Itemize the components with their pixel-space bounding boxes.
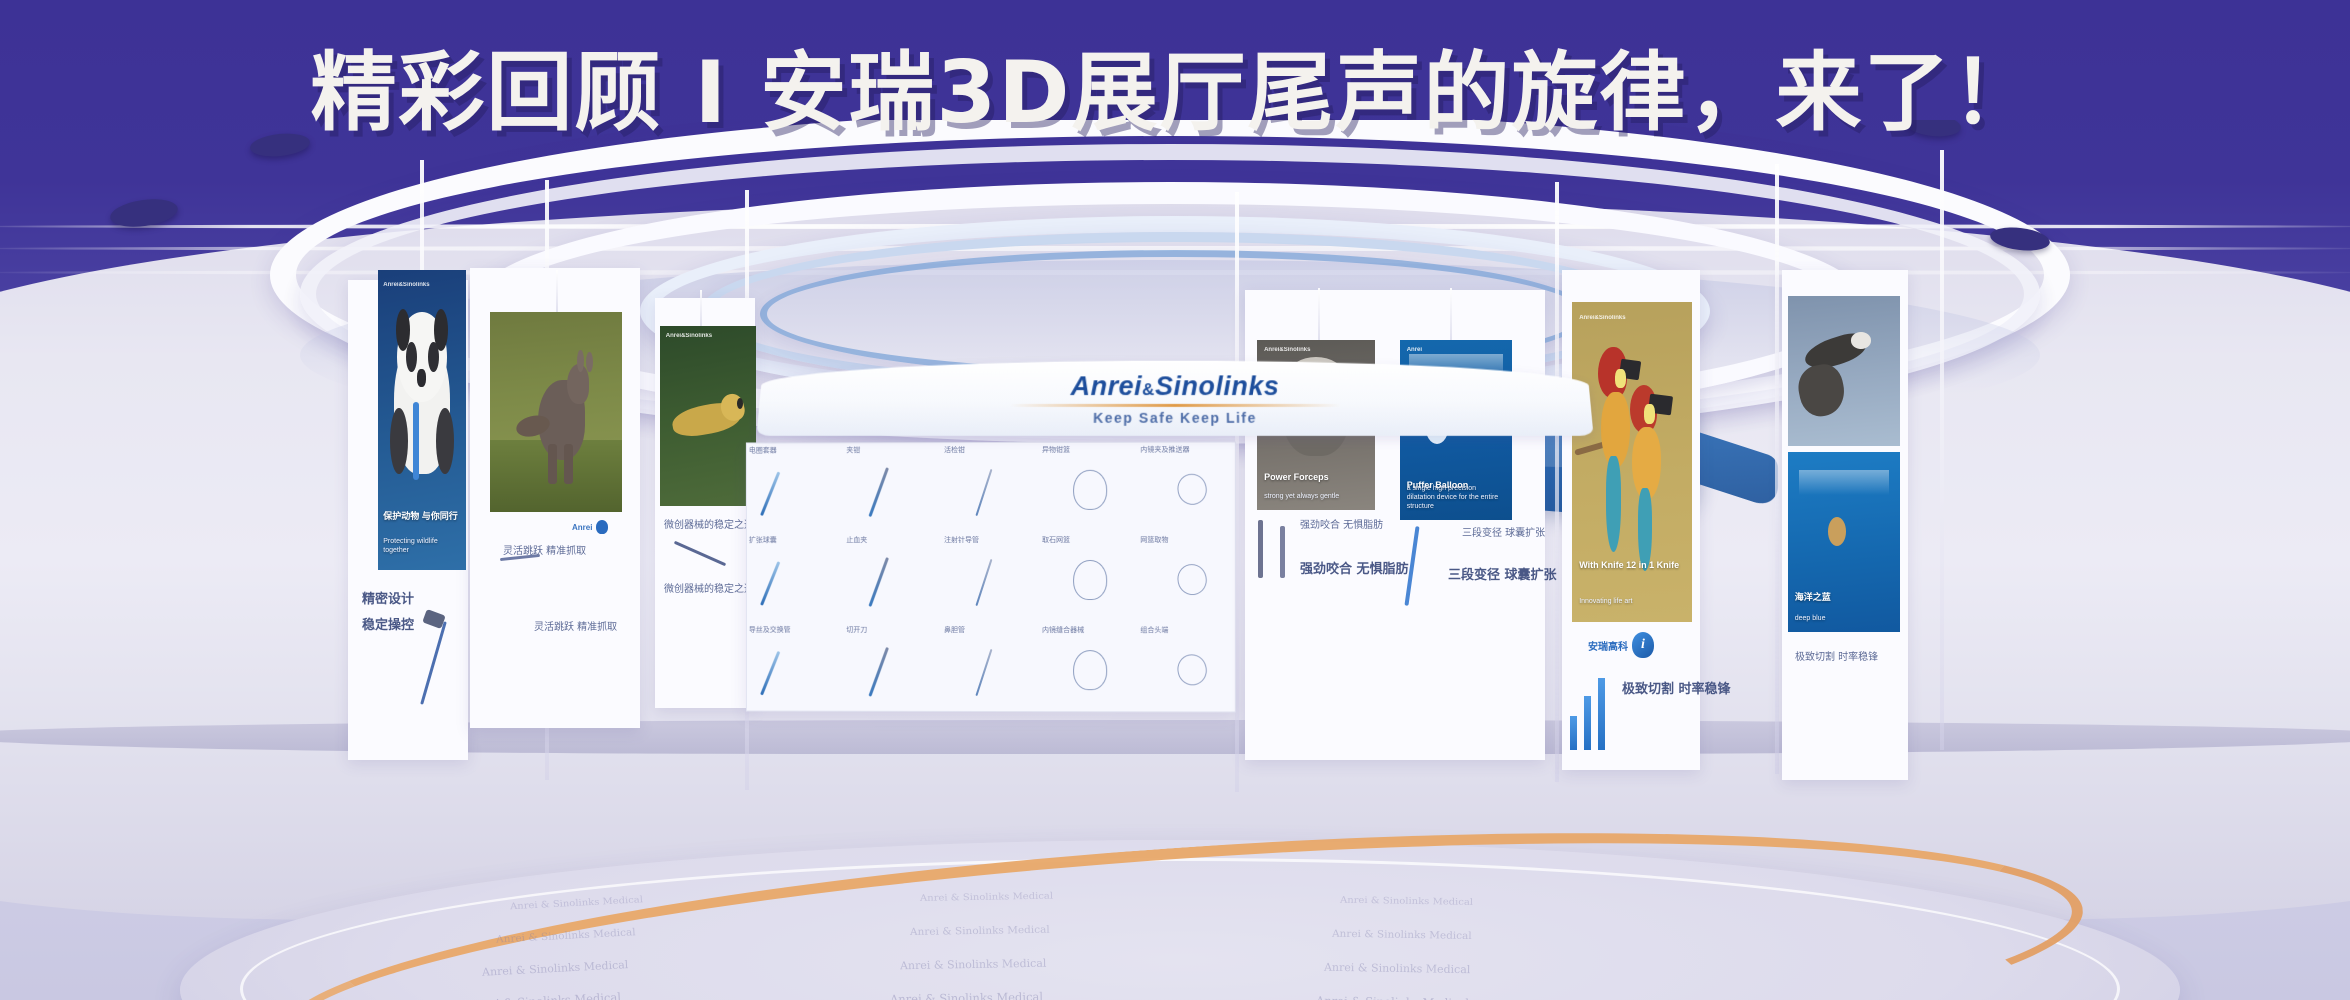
kangaroo-logo-badge: Anrei [572, 520, 608, 534]
page-title: 精彩回顾 I 安瑞3D展厅尾声的旋律，来了！ [0, 22, 2350, 147]
poster-brand: Anrei&Sinolinks [1264, 347, 1310, 353]
product-grid-panel[interactable]: 电圈套器夹钳活检钳异物钳篮内镜夹及推送器扩张球囊止血夹注射针导管取石网篮网篮取物… [746, 442, 1236, 713]
poster-title: With Knife 12 in 1 Knife [1579, 560, 1685, 571]
poster-bee-eater[interactable]: Anrei&Sinolinks With Knife 12 in 1 Knife… [1572, 302, 1692, 622]
dolphin-caption: 三段变径 球囊扩张 [1448, 566, 1557, 586]
instrument-icon [1073, 470, 1106, 510]
mini-bar [1584, 696, 1591, 750]
brand-anrei: Anrei [1071, 371, 1143, 400]
bird-logo-badge: 安瑞高科 i [1588, 632, 1654, 658]
kangaroo-caption-2: 灵活跳跃 精准抓取 [534, 620, 617, 635]
poster-eagle[interactable] [1788, 296, 1900, 446]
instrument-icon [1175, 651, 1210, 687]
poster-hanger [556, 270, 558, 312]
product-grid-cell-label: 组合头端 [1140, 625, 1168, 635]
poster-panda[interactable]: Anrei&Sinolinks 保护动物 与你同行 Protecting wil… [378, 270, 466, 570]
poster-subtitle: Innovating life art [1579, 597, 1685, 606]
instrument-icon [869, 557, 890, 607]
instrument-icon [976, 469, 993, 516]
mini-bar [1598, 678, 1605, 750]
hall-floor: Anrei & Sinolinks MedicalAnrei & Sinolin… [180, 840, 2180, 1000]
instrument-icon [976, 649, 993, 696]
poster-subtitle: a single high precision dilatation devic… [1407, 484, 1506, 511]
instrument-icon [1175, 561, 1210, 597]
instrument-icon [869, 647, 890, 697]
product-grid-cell[interactable]: 异物钳篮 [1040, 443, 1138, 533]
instrument-sketch [1280, 526, 1285, 578]
lizard-caption-2: 微创器械的稳定之选 [664, 582, 754, 597]
product-grid-cell[interactable]: 夹钳 [844, 443, 942, 533]
instrument-icon [760, 471, 780, 515]
instrument-icon [869, 468, 890, 518]
exhibition-hall-3d-scene: Anrei&Sinolinks 保护动物 与你同行 Protecting wil… [0, 120, 2350, 1000]
badger-caption: 强劲咬合 无惧脂肪 [1300, 560, 1409, 580]
panel-caption-left-line2: 稳定操控 [362, 616, 414, 636]
instrument-icon [976, 559, 993, 606]
exhibition-banner-image: Anrei&Sinolinks 保护动物 与你同行 Protecting wil… [0, 0, 2350, 1000]
instrument-icon [1175, 471, 1210, 507]
poster-hanger [700, 290, 702, 326]
product-grid-cell[interactable]: 切开刀 [844, 623, 942, 713]
product-grid-cell-label: 鼻胆管 [944, 625, 965, 635]
instrument-icon [760, 651, 780, 695]
ocean-caption: 极致切割 时率稳锋 [1795, 650, 1878, 665]
product-grid-cell[interactable]: 止血夹 [844, 533, 942, 623]
product-grid-cell[interactable]: 电圈套器 [747, 443, 844, 533]
bird-badge-text: 安瑞高科 [1588, 638, 1628, 653]
product-grid-cell-label: 取石网篮 [1042, 535, 1070, 545]
poster-kangaroo[interactable] [490, 312, 622, 512]
poster-subtitle: Protecting wildlife together [383, 537, 460, 555]
product-grid-cell-label: 内镜夹及推送器 [1140, 445, 1189, 455]
product-grid-cell-label: 电圈套器 [749, 445, 777, 455]
floor-decorative-text: Anrei & Sinolinks Medical [1324, 961, 1471, 976]
poster-hanger [1450, 288, 1452, 340]
poster-brand: Anrei&Sinolinks [1579, 315, 1625, 321]
lizard-caption: 微创器械的稳定之选 [664, 518, 754, 533]
brand-sinolinks: Sinolinks [1155, 371, 1280, 400]
product-grid-cell[interactable]: 鼻胆管 [942, 623, 1040, 713]
product-grid-cell-label: 注射针导管 [944, 535, 979, 545]
product-grid-cell[interactable]: 导丝及交换管 [747, 623, 844, 713]
floor-decorative-text: Anrei & Sinolinks Medical [890, 990, 1043, 1000]
product-grid-cell-label: 异物钳篮 [1042, 445, 1070, 455]
poster-lizard[interactable]: Anrei&Sinolinks [660, 326, 756, 506]
badger-caption-top: 强劲咬合 无惧脂肪 [1300, 518, 1383, 533]
product-grid-cell-label: 内镜缝合器械 [1042, 625, 1084, 635]
instrument-icon [1073, 560, 1106, 600]
brand-ampersand: & [1142, 380, 1155, 399]
poster-brand: Anrei&Sinolinks [666, 333, 712, 339]
product-grid-cell[interactable]: 扩张球囊 [747, 533, 844, 623]
poster-brand: Anrei&Sinolinks [383, 282, 429, 288]
poster-title: 保护动物 与你同行 [383, 511, 460, 522]
poster-brand: Anrei [1407, 347, 1422, 353]
poster-subtitle: strong yet always gentle [1264, 492, 1368, 501]
product-grid-cell-label: 扩张球囊 [749, 535, 777, 545]
anrei-i-mark-icon: i [1632, 632, 1654, 658]
product-grid-cell[interactable]: 内镜夹及推送器 [1138, 443, 1236, 533]
product-grid-cell-label: 夹钳 [846, 445, 860, 455]
poster-title: 海洋之蓝 [1795, 592, 1894, 603]
poster-subtitle: deep blue [1795, 614, 1894, 623]
mini-bar [1570, 716, 1577, 750]
product-grid-cell[interactable]: 内镜缝合器械 [1040, 623, 1138, 712]
floor-decorative-text: Anrei & Sinolinks Medical [1332, 928, 1472, 942]
brand-logo-text: Anrei&Sinolinks [1070, 371, 1279, 401]
product-grid-cell[interactable]: 组合头端 [1138, 623, 1236, 712]
instrument-icon [760, 561, 780, 605]
instrument-sketch [1258, 520, 1263, 578]
product-grid-cell-label: 切开刀 [846, 625, 867, 635]
product-grid-cell[interactable]: 注射针导管 [942, 533, 1040, 623]
product-grid-cell[interactable]: 活检钳 [942, 443, 1040, 533]
product-grid-cell[interactable]: 取石网篮 [1040, 533, 1138, 623]
panel-caption-left: 精密设计 [362, 590, 414, 610]
product-grid-cell-label: 活检钳 [944, 445, 965, 455]
instrument-icon [1073, 650, 1106, 690]
brand-tagline: Keep Safe Keep Life [1093, 409, 1257, 425]
poster-hanger [1318, 288, 1320, 340]
mini-bar-chart [1570, 660, 1605, 750]
bird-caption: 极致切割 时率稳锋 [1622, 680, 1731, 700]
floor-decorative-text: Anrei & Sinolinks Medical [900, 957, 1047, 972]
product-grid-cell[interactable]: 网篮取物 [1138, 533, 1236, 623]
hall-brand-signage: Anrei&Sinolinks Keep Safe Keep Life [756, 361, 1593, 436]
poster-ocean[interactable]: 海洋之蓝 deep blue [1788, 452, 1900, 632]
poster-title: Power Forceps [1264, 472, 1368, 483]
product-grid-cell-label: 止血夹 [846, 535, 867, 545]
product-grid-cell-label: 导丝及交换管 [749, 625, 791, 635]
dolphin-caption-top: 三段变径 球囊扩张 [1462, 526, 1545, 541]
product-grid-cell-label: 网篮取物 [1140, 535, 1168, 545]
brand-divider [1010, 403, 1341, 406]
